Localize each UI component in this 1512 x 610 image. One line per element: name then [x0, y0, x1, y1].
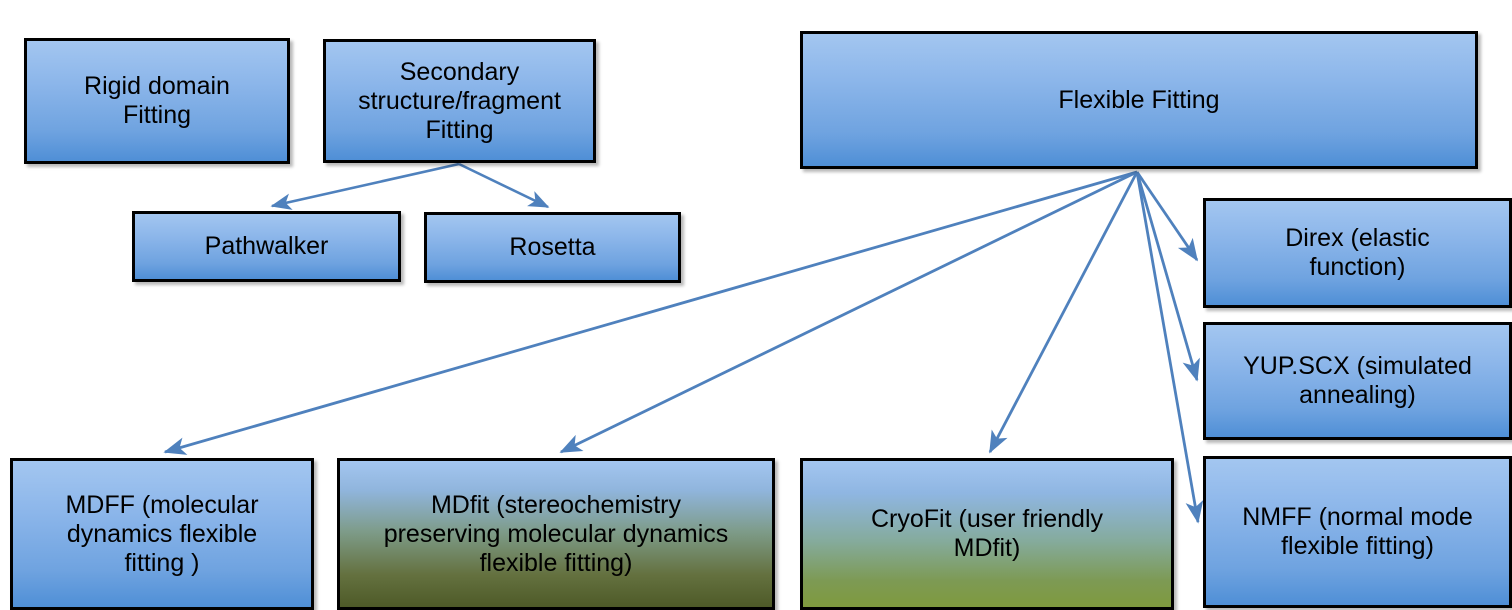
- node-label: MDfit (stereochemistry preserving molecu…: [348, 491, 764, 578]
- node-label: Rosetta: [435, 233, 670, 262]
- node-label: Direx (elastic function): [1214, 224, 1501, 282]
- node-cryofit[interactable]: CryoFit (user friendly MDfit): [800, 458, 1174, 610]
- node-flexible-fitting[interactable]: Flexible Fitting: [800, 31, 1478, 169]
- diagram-canvas: Rigid domain Fitting Secondary structure…: [0, 0, 1512, 610]
- node-label: CryoFit (user friendly MDfit): [811, 505, 1163, 563]
- node-label: Secondary structure/fragment Fitting: [334, 58, 585, 145]
- edge-flexible-to-direx: [1137, 172, 1197, 260]
- node-nmff[interactable]: NMFF (normal mode flexible fitting): [1203, 456, 1512, 608]
- node-direx[interactable]: Direx (elastic function): [1203, 198, 1512, 308]
- edge-flexible-to-cryofit: [990, 172, 1137, 452]
- edge-flexible-to-yupscx: [1137, 172, 1197, 380]
- edge-secondary-to-pathwalker: [272, 164, 459, 206]
- node-rosetta[interactable]: Rosetta: [424, 212, 681, 283]
- node-label: YUP.SCX (simulated annealing): [1214, 352, 1501, 410]
- node-label: MDFF (molecular dynamics flexible fittin…: [21, 491, 303, 578]
- node-label: Pathwalker: [143, 232, 390, 261]
- node-rigid-domain-fitting[interactable]: Rigid domain Fitting: [24, 38, 290, 164]
- node-label: Rigid domain Fitting: [35, 72, 279, 130]
- node-pathwalker[interactable]: Pathwalker: [132, 211, 401, 282]
- node-mdfit[interactable]: MDfit (stereochemistry preserving molecu…: [337, 458, 775, 610]
- node-label: Flexible Fitting: [811, 86, 1467, 115]
- node-mdff[interactable]: MDFF (molecular dynamics flexible fittin…: [10, 458, 314, 610]
- edge-secondary-to-rosetta: [459, 164, 548, 207]
- node-secondary-structure-fragment-fitting[interactable]: Secondary structure/fragment Fitting: [323, 39, 596, 163]
- node-yup-scx[interactable]: YUP.SCX (simulated annealing): [1203, 322, 1512, 440]
- node-label: NMFF (normal mode flexible fitting): [1214, 503, 1501, 561]
